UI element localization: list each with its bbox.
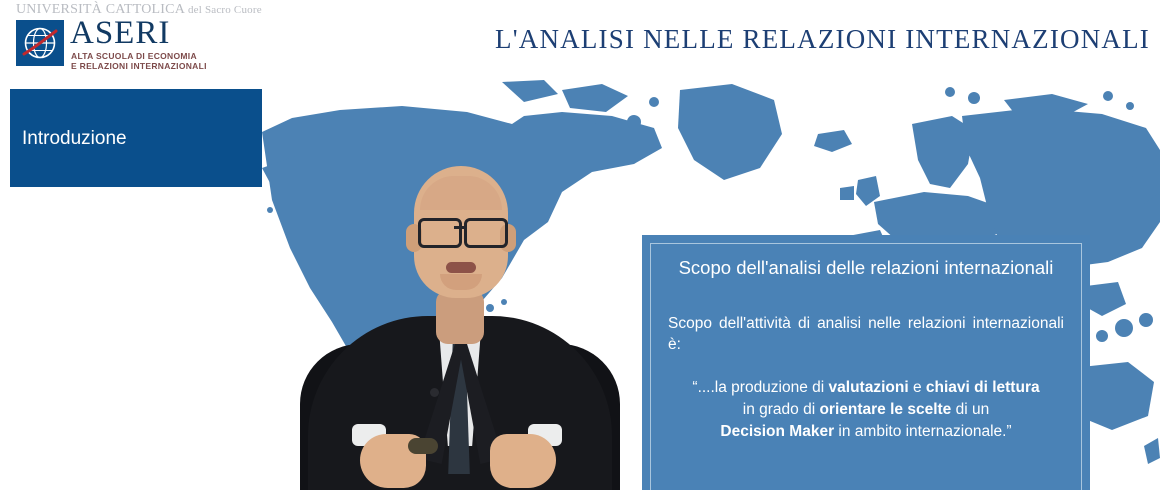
quote-line3-post: in ambito internazionale.” — [834, 423, 1012, 440]
section-tag-label: Introduzione — [22, 128, 127, 150]
glasses-lens-right — [464, 218, 508, 248]
quote-line2-post: di un — [951, 401, 989, 418]
aseri-tagline-line2: E RELAZIONI INTERNAZIONALI — [71, 61, 207, 71]
lapel-microphone-icon — [430, 388, 439, 397]
presenter-hand-right — [490, 434, 556, 488]
glasses-icon — [418, 218, 462, 248]
quote-emphasis-decision-maker: Decision Maker — [720, 423, 834, 440]
quote-emphasis-orientare: orientare le scelte — [819, 401, 951, 418]
content-panel: Scopo dell'analisi delle relazioni inter… — [642, 235, 1090, 490]
presentation-clicker-icon — [408, 438, 438, 454]
quote-line1-pre: “....la produzione di — [692, 379, 828, 396]
presenter-neck — [436, 290, 484, 344]
page-title: L'ANALISI NELLE RELAZIONI INTERNAZIONALI — [0, 24, 1150, 55]
presenter-person-icon — [300, 138, 620, 490]
glasses-bridge — [454, 226, 466, 229]
content-panel-body: Scopo dell'attività di analisi nelle rel… — [668, 313, 1064, 355]
content-panel-border — [650, 243, 1082, 490]
quote-line1-mid: e — [909, 379, 926, 396]
presenter-mouth — [446, 262, 476, 273]
quote-emphasis-chiavi: chiavi di lettura — [926, 379, 1040, 396]
university-name-sub: del Sacro Cuore — [188, 4, 262, 16]
content-panel-quote: “....la produzione di valutazioni e chia… — [660, 377, 1072, 443]
content-panel-heading: Scopo dell'analisi delle relazioni inter… — [676, 255, 1056, 280]
quote-line2-pre: in grado di — [743, 401, 820, 418]
quote-emphasis-valutazioni: valutazioni — [829, 379, 909, 396]
section-tag-introduzione: Introduzione — [10, 89, 262, 187]
slide-header: UNIVERSITÀ CATTOLICA del Sacro Cuore ASE… — [0, 0, 1160, 80]
